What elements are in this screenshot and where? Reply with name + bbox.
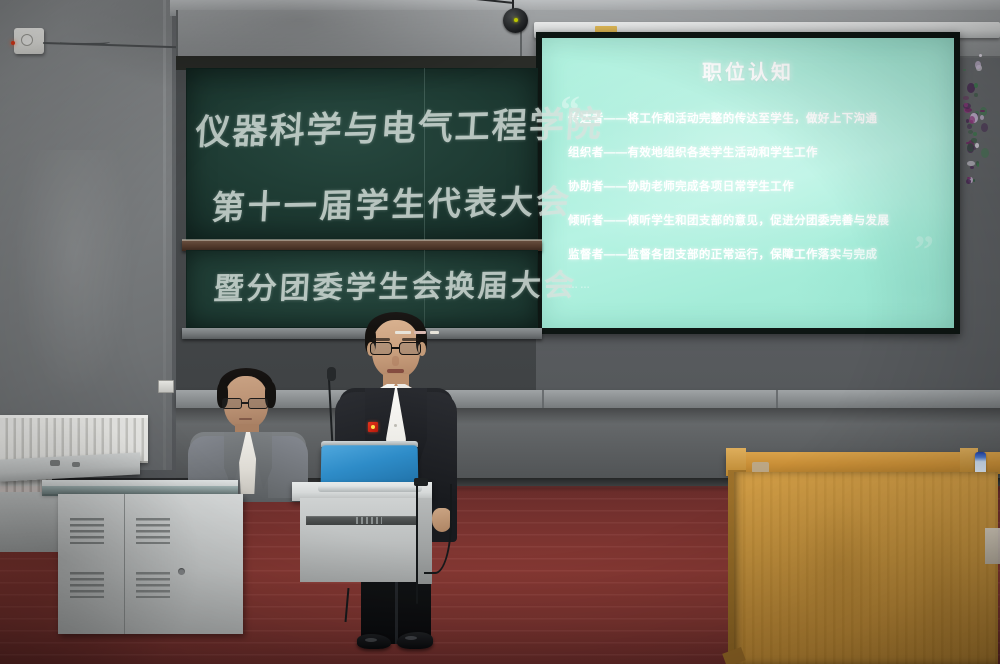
projection-screen: 职位认知 “ 传达者——将工作和活动完整的传达至学生，做好上下沟通 组织者——有…	[542, 38, 954, 328]
garland-element	[975, 143, 980, 148]
slide-title: 职位认知	[542, 56, 954, 85]
decorative-garland	[962, 34, 988, 204]
glasses-bridge	[392, 347, 400, 349]
cabinet-knob[interactable]	[178, 568, 185, 575]
glasses-icon	[370, 342, 423, 355]
thermostat-dial[interactable]	[21, 34, 33, 46]
shirt-button	[394, 424, 397, 427]
garland-element	[970, 166, 974, 169]
garland-element	[980, 115, 984, 120]
cabinet-vent	[136, 572, 170, 598]
lecture-hall-photo: 职位认知 “ 传达者——将工作和活动完整的传达至学生，做好上下沟通 组织者——有…	[0, 0, 1000, 664]
list-item: 协助者——协助老师完成各项日常学生工作	[568, 178, 942, 194]
garland-element	[981, 148, 989, 158]
cabinet-vent	[70, 572, 104, 598]
garland-element	[966, 179, 971, 184]
eyebrow-right	[402, 338, 420, 341]
mouth	[387, 369, 404, 373]
chalk-piece	[430, 331, 439, 334]
cabinet-vent	[70, 518, 104, 544]
lens-right	[399, 342, 421, 355]
close-quote-icon: ”	[914, 230, 934, 270]
garland-element	[964, 103, 967, 107]
mouth	[239, 418, 252, 420]
ledge-seam	[542, 390, 544, 408]
cabinet-vent	[136, 518, 170, 544]
desk-cable-grommet	[72, 462, 80, 467]
thermostat-panel[interactable]	[14, 28, 44, 54]
ledge-seam	[776, 390, 778, 408]
lectern-paper	[985, 528, 1000, 564]
podium-body	[300, 498, 424, 582]
shoe-highlight	[365, 638, 377, 642]
blackboard-line-1: 仪器科学与电气工程学院	[194, 96, 605, 156]
chalk-piece	[395, 331, 411, 334]
laptop-base[interactable]	[318, 486, 422, 492]
soffit-seam	[176, 10, 178, 58]
blackboard-line-2: 第十一届学生代表大会	[211, 175, 574, 229]
list-item: 监督者——监督各团支部的正常运行，保障工作落实与完成	[568, 246, 942, 262]
desk-cable-grommet	[50, 460, 60, 466]
garland-element	[967, 124, 971, 129]
shoe-right	[397, 632, 433, 649]
garland-element	[973, 179, 975, 182]
seated-attendee	[186, 366, 310, 496]
cabinet-door-seam	[124, 494, 125, 634]
lens-left	[222, 398, 242, 409]
power-led-icon	[11, 41, 15, 45]
garland-element	[979, 54, 982, 57]
garland-element	[974, 93, 978, 97]
list-item: 组织者——有效地组织各类学生活动和学生工作	[568, 144, 942, 160]
glasses-bridge	[242, 402, 249, 404]
shoe-highlight	[405, 636, 417, 640]
garland-element	[963, 69, 966, 71]
lens-right	[248, 398, 268, 409]
metal-cabinet	[58, 494, 243, 634]
garland-element	[974, 83, 978, 88]
wall-outlet[interactable]	[158, 380, 174, 393]
eyebrow-left	[372, 338, 390, 341]
garland-element	[973, 132, 977, 136]
slide-bullet-list: 传达者——将工作和活动完整的传达至学生，做好上下沟通 组织者——有效地组织各类学…	[568, 110, 942, 309]
dome-speaker-icon	[503, 8, 528, 33]
garland-element	[968, 130, 973, 134]
wall-smudge	[14, 150, 134, 400]
garland-element	[981, 123, 988, 132]
list-item-ellipsis: ……	[568, 280, 942, 291]
list-item: 传达者——将工作和活动完整的传达至学生，做好上下沟通	[568, 110, 942, 126]
blackboard-line-3: 暨分团委学生会换届大会	[213, 260, 579, 308]
power-cable	[416, 484, 418, 604]
projection-screen-frame: 职位认知 “ 传达者——将工作和活动完整的传达至学生，做好上下沟通 组织者——有…	[536, 32, 960, 334]
garland-element	[965, 108, 972, 112]
lens-left	[370, 342, 392, 355]
wall-cable-loop	[60, 39, 110, 45]
glasses-icon	[222, 398, 271, 409]
chalk-piece	[414, 331, 426, 334]
badge-star-icon	[371, 425, 375, 429]
garland-element	[963, 96, 969, 100]
garland-element	[977, 163, 980, 167]
wall-seam	[163, 0, 166, 470]
lectern-front-panel	[734, 472, 998, 664]
garland-element	[971, 138, 977, 142]
podium-equipment	[356, 517, 382, 524]
nose	[392, 356, 399, 366]
list-item: 倾听者——倾听学生和团支部的意见，促进分团委完善与发展	[568, 212, 942, 228]
lapel-badge-icon	[368, 422, 378, 432]
speaker-led-icon	[514, 18, 518, 22]
chalk-rail-highlight	[182, 239, 542, 241]
